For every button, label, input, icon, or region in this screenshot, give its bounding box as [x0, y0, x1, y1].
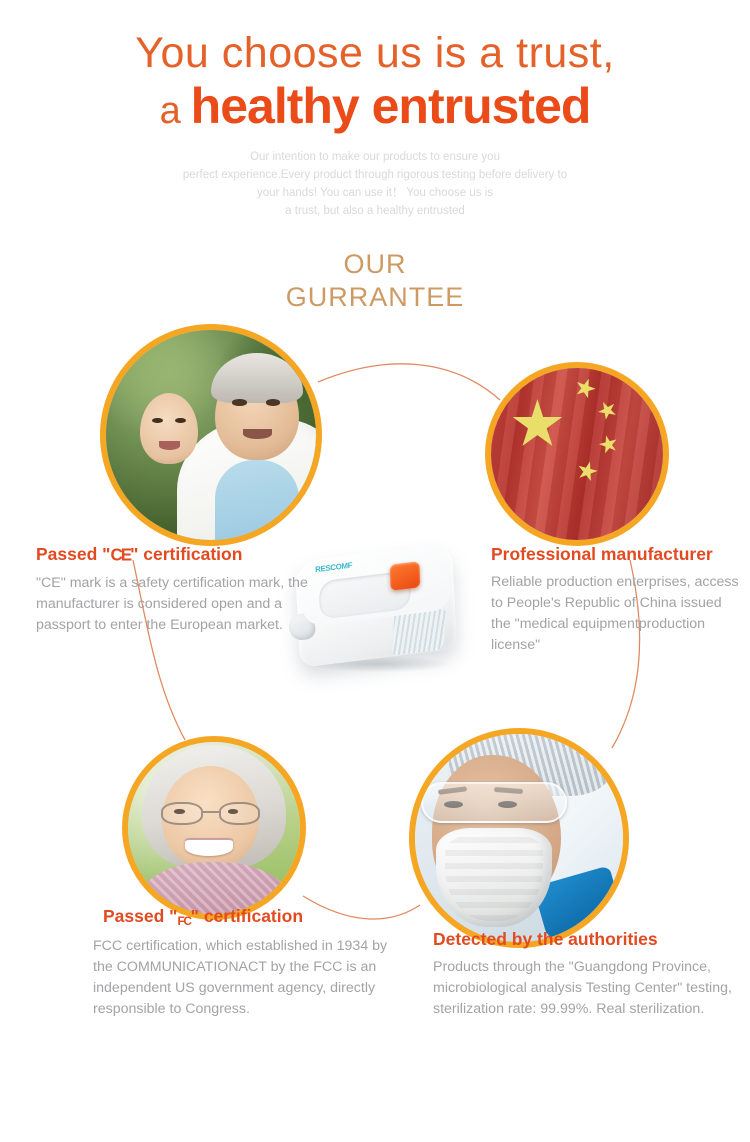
photo-circle-fcc: [122, 736, 306, 920]
feature-block-professional: Professional manufacturer Reliable produ…: [491, 543, 741, 656]
heading-prefix: Passed ": [36, 544, 110, 564]
lens-left: [161, 802, 203, 824]
heading-prefix: Passed ": [103, 906, 177, 926]
feature-block-fcc: Passed "FC" certification FCC certificat…: [93, 905, 393, 1020]
feature-heading-authorities: Detected by the authorities: [433, 928, 733, 950]
device-power-button[interactable]: [390, 561, 421, 591]
man-eye-left: [232, 399, 247, 405]
headline-line-2: a healthy entrusted: [0, 80, 750, 137]
photo-elderly-woman: [128, 742, 300, 914]
eyeglasses-icon: [161, 802, 261, 824]
photo-circle-china-flag: [485, 362, 669, 546]
page-header: You choose us is a trust, a healthy entr…: [0, 0, 750, 137]
headline-prefix: a: [160, 90, 191, 132]
lens-right: [219, 802, 261, 824]
woman-face: [140, 393, 199, 464]
section-title-line-1: OUR: [0, 248, 750, 281]
subtitle-line: perfect experience.Every product through…: [0, 166, 750, 184]
fcc-mark-icon: FC: [177, 910, 190, 932]
section-title-line-2: GURRANTEE: [0, 281, 750, 314]
safety-goggles-icon: [421, 782, 567, 824]
respirator-mask: [436, 828, 552, 928]
feature-heading-fcc: Passed "FC" certification: [93, 905, 393, 929]
feature-heading-ce: Passed "CE" certification: [36, 543, 314, 566]
subtitle-paragraph: Our intention to make our products to en…: [0, 148, 750, 220]
feature-body-ce: "CE" mark is a safety certification mark…: [36, 573, 314, 636]
device-vent-grille: [392, 609, 446, 656]
feature-block-ce: Passed "CE" certification "CE" mark is a…: [36, 543, 314, 636]
flag-wave-texture: [491, 368, 663, 540]
heading-suffix: " certification: [191, 906, 303, 926]
heading-suffix: " certification: [130, 544, 242, 564]
photo-circle-ce: [100, 324, 322, 546]
blue-polo-shirt: [215, 460, 299, 546]
man-eye-right: [266, 399, 281, 405]
photo-circle-lab: [409, 728, 629, 948]
granny-smile: [185, 838, 233, 855]
headline-line-1: You choose us is a trust,: [0, 28, 750, 78]
section-title: OUR GURRANTEE: [0, 248, 750, 314]
photo-elderly-man-doctor: [106, 330, 316, 540]
glasses-bridge: [203, 811, 219, 813]
photo-china-flag: [491, 368, 663, 540]
subtitle-line: a trust, but also a healthy entrusted: [0, 202, 750, 220]
feature-body-authorities: Products through the "Guangdong Province…: [433, 957, 733, 1020]
subtitle-line: Our intention to make our products to en…: [0, 148, 750, 166]
feature-heading-professional: Professional manufacturer: [491, 543, 741, 565]
feature-body-professional: Reliable production enterprises, access …: [491, 572, 741, 656]
headline-emphasis: healthy entrusted: [191, 78, 591, 134]
ce-mark-icon: CE: [110, 543, 130, 566]
feature-body-fcc: FCC certification, which established in …: [93, 936, 393, 1020]
woman-mouth: [159, 441, 180, 449]
subtitle-line: your hands! You can use it！ You choose u…: [0, 184, 750, 202]
feature-block-authorities: Detected by the authorities Products thr…: [433, 928, 733, 1020]
photo-lab-technician: [415, 734, 623, 942]
